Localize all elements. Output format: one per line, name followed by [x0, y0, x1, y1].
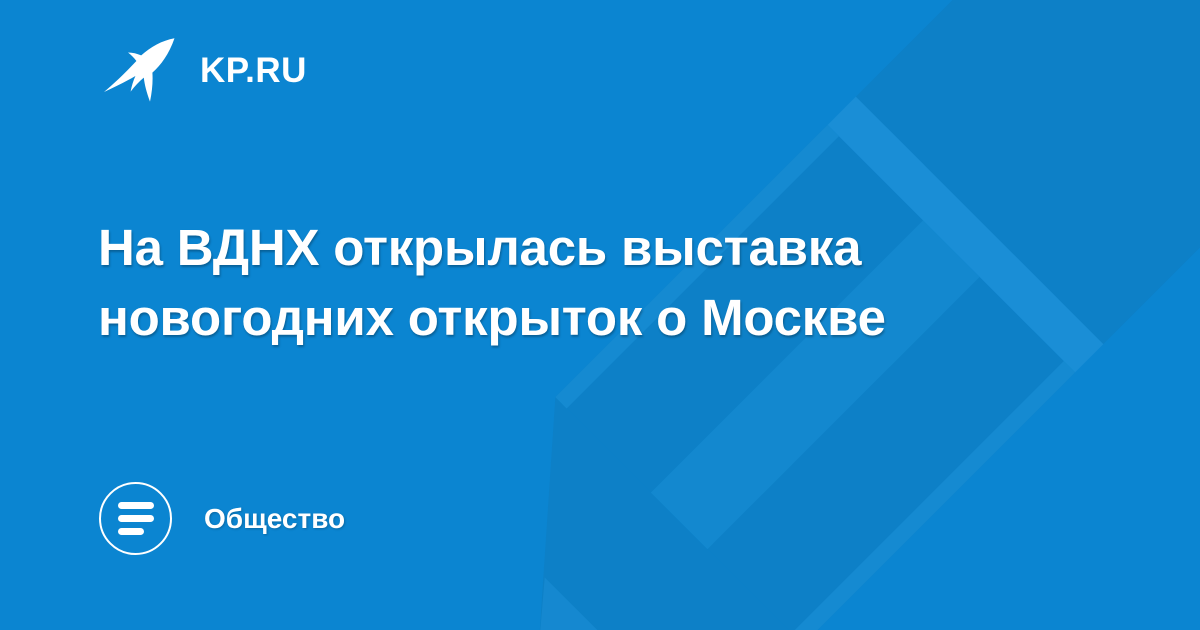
site-header: KP.RU	[100, 34, 307, 106]
pencil-barrel	[555, 125, 1075, 630]
category-badge[interactable]: Общество	[99, 482, 345, 555]
swallow-bird-icon	[100, 34, 178, 106]
page-title: На ВДНХ открылась выставка новогодних от…	[98, 213, 1058, 354]
menu-bar-1	[118, 502, 154, 509]
pencil-tip	[414, 397, 803, 630]
brand-name[interactable]: KP.RU	[200, 53, 307, 88]
menu-bar-2	[118, 515, 154, 522]
hamburger-lines-icon[interactable]	[99, 482, 172, 555]
pencil-edge-right	[792, 361, 1076, 630]
share-card: KP.RU На ВДНХ открылась выставка новогод…	[0, 0, 1200, 630]
category-label: Общество	[204, 505, 345, 533]
menu-bar-3	[118, 528, 144, 535]
pencil-point	[499, 577, 623, 630]
